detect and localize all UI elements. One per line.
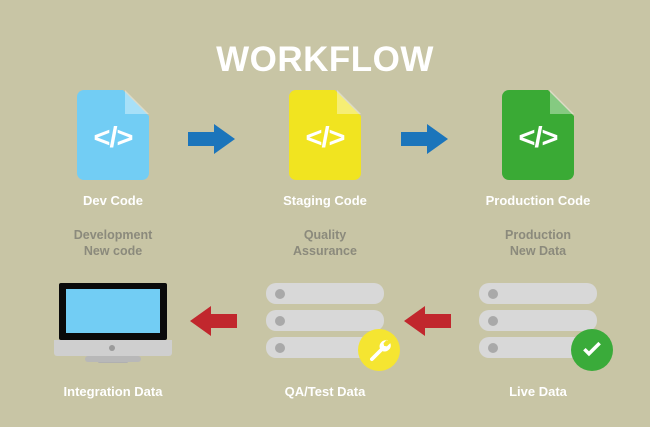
monitor-screen bbox=[66, 289, 160, 333]
stage-label-production: Production Code bbox=[443, 192, 633, 209]
stage-caption-line2: Assurance bbox=[230, 243, 420, 259]
data-label-integration-wrap: Integration Data bbox=[18, 383, 208, 400]
workflow-stage-production: </> Production Code Production New Data bbox=[443, 90, 633, 259]
stage-label-staging: Staging Code bbox=[230, 192, 420, 209]
server-bar bbox=[479, 310, 597, 331]
server-led bbox=[275, 316, 285, 326]
data-label-live: Live Data bbox=[443, 383, 633, 400]
code-file-icon-dev[interactable]: </> bbox=[77, 90, 149, 180]
monitor-stand-foot bbox=[85, 356, 141, 362]
code-glyph: </> bbox=[77, 90, 149, 180]
server-bar bbox=[266, 310, 384, 331]
server-bar bbox=[479, 283, 597, 304]
server-led bbox=[275, 343, 285, 353]
workflow-diagram: WORKFLOW </> Dev Code Development New co… bbox=[0, 0, 650, 427]
stage-label-dev: Dev Code bbox=[18, 192, 208, 209]
server-led bbox=[488, 343, 498, 353]
code-glyph: </> bbox=[502, 90, 574, 180]
server-bar bbox=[266, 283, 384, 304]
data-stage-qa bbox=[230, 283, 420, 361]
code-file-icon-production[interactable]: </> bbox=[502, 90, 574, 180]
stage-caption-line1: Development bbox=[18, 227, 208, 243]
stage-caption-line1: Quality bbox=[230, 227, 420, 243]
server-led bbox=[488, 289, 498, 299]
stage-caption-production: Production New Data bbox=[443, 227, 633, 259]
stage-caption-line1: Production bbox=[443, 227, 633, 243]
server-led bbox=[488, 316, 498, 326]
wrench-icon[interactable] bbox=[358, 329, 400, 371]
page-title: WORKFLOW bbox=[0, 40, 650, 80]
code-file-icon-staging[interactable]: </> bbox=[289, 90, 361, 180]
server-stack-icon-live[interactable] bbox=[479, 283, 597, 361]
check-icon[interactable] bbox=[571, 329, 613, 371]
stage-caption-line2: New code bbox=[18, 243, 208, 259]
arrow-left-icon-2 bbox=[404, 304, 452, 338]
data-label-integration: Integration Data bbox=[18, 383, 208, 400]
data-label-live-wrap: Live Data bbox=[443, 383, 633, 400]
stage-caption-staging: Quality Assurance bbox=[230, 227, 420, 259]
data-label-qa-wrap: QA/Test Data bbox=[230, 383, 420, 400]
arrow-right-icon-1 bbox=[188, 122, 236, 156]
workflow-stage-staging: </> Staging Code Quality Assurance bbox=[230, 90, 420, 259]
code-glyph: </> bbox=[289, 90, 361, 180]
data-label-qa: QA/Test Data bbox=[230, 383, 420, 400]
data-stage-live bbox=[443, 283, 633, 361]
workflow-stage-dev: </> Dev Code Development New code bbox=[18, 90, 208, 259]
server-led bbox=[275, 289, 285, 299]
stage-caption-line2: New Data bbox=[443, 243, 633, 259]
data-stage-integration bbox=[18, 283, 208, 361]
arrow-left-icon-1 bbox=[190, 304, 238, 338]
server-stack-icon-qa[interactable] bbox=[266, 283, 384, 361]
arrow-right-icon-2 bbox=[401, 122, 449, 156]
monitor-icon[interactable] bbox=[54, 283, 172, 361]
monitor-indicator-dot bbox=[109, 345, 115, 351]
stage-caption-dev: Development New code bbox=[18, 227, 208, 259]
